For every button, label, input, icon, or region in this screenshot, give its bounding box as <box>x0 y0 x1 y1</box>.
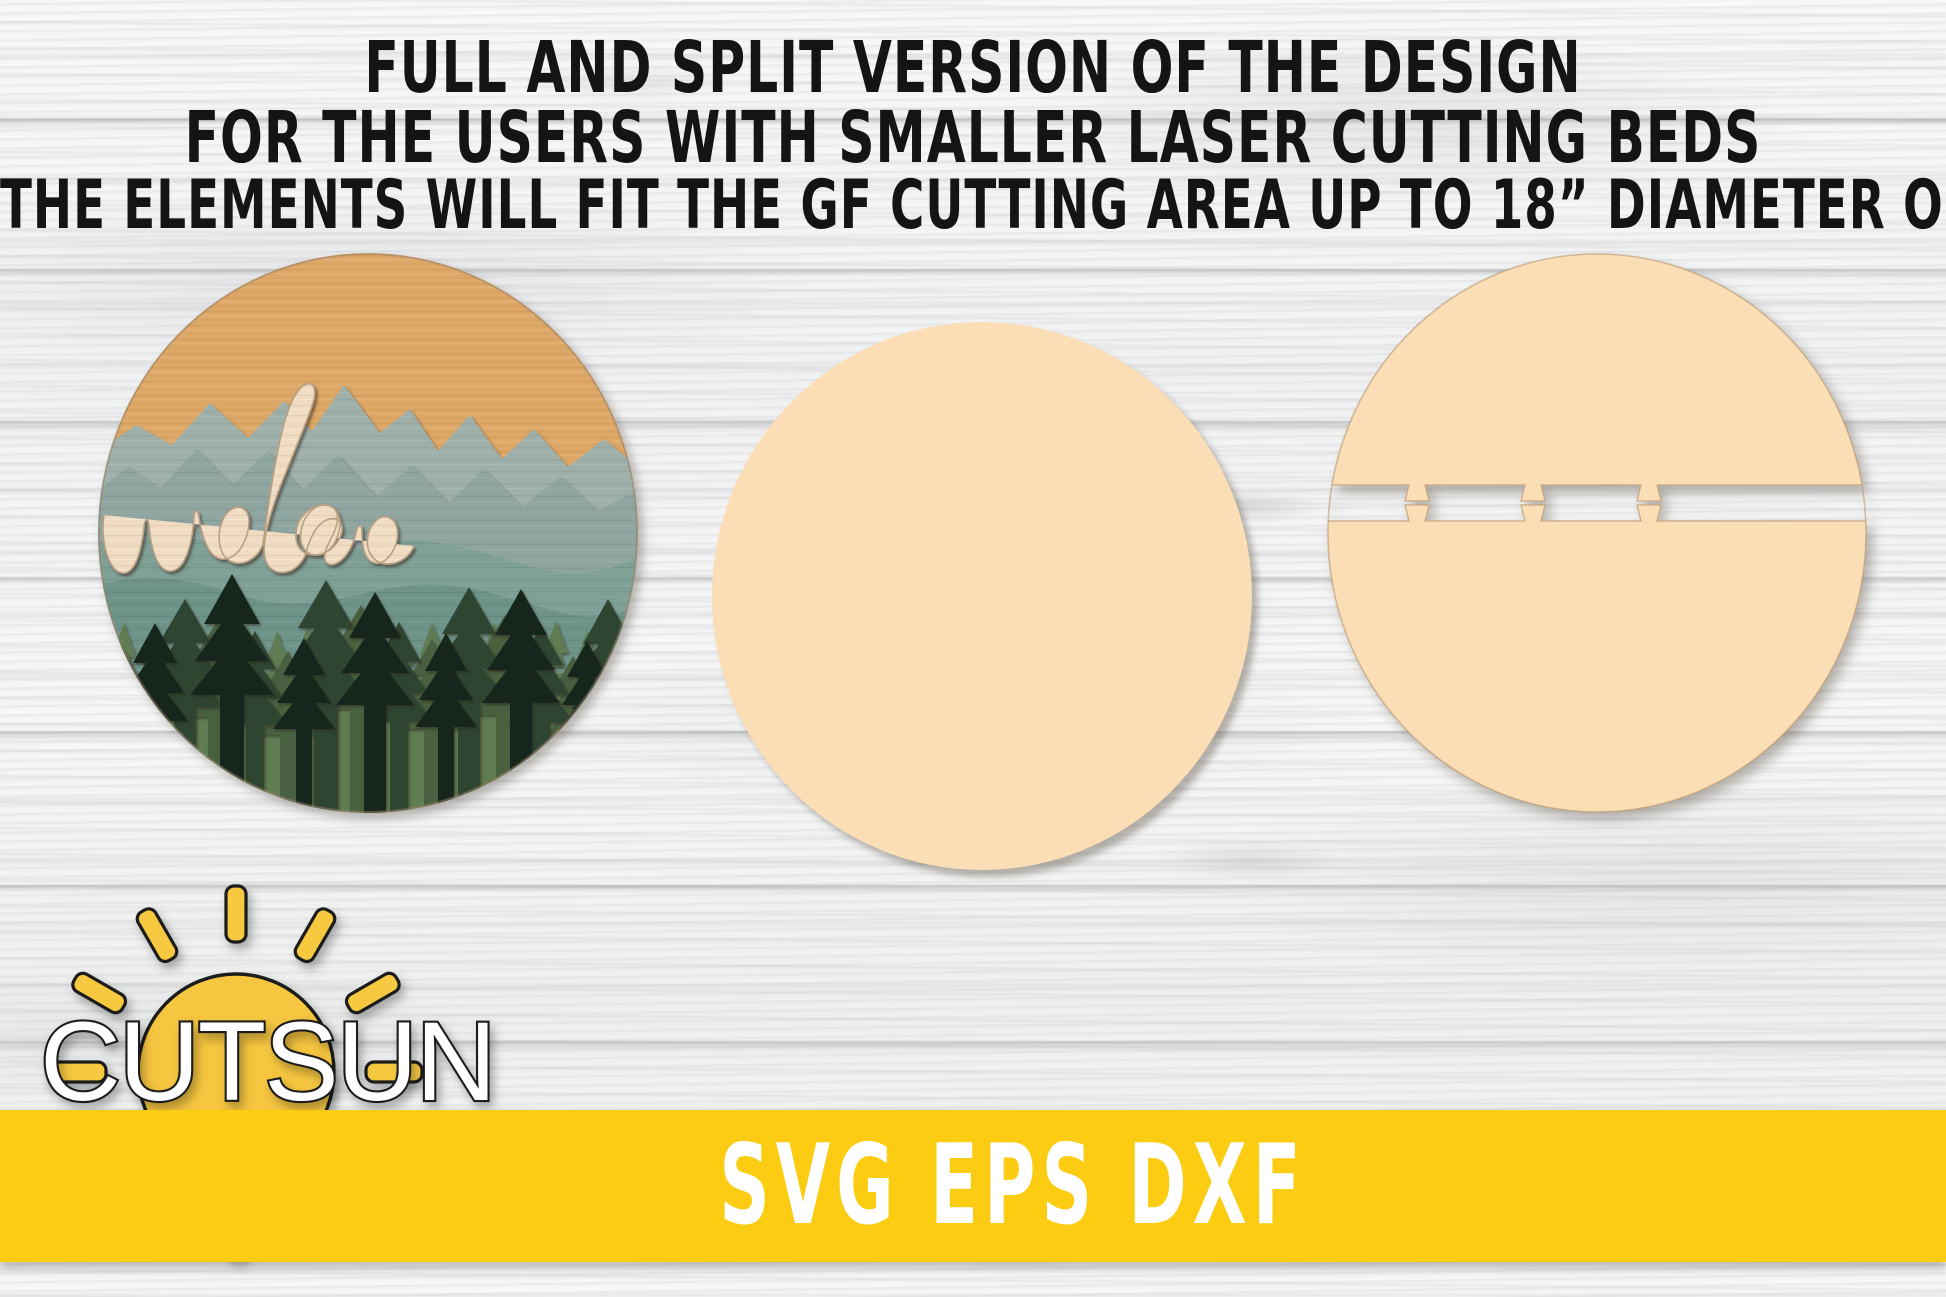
design-round-welcome <box>98 253 638 813</box>
brand-wordmark: CUTSUN <box>40 999 495 1124</box>
poster-canvas: FULL AND SPLIT VERSION OF THE DESIGN FOR… <box>0 0 1946 1297</box>
design-round-split <box>1327 253 1867 813</box>
design-round-blank <box>712 322 1252 870</box>
split-bottom-half <box>1327 505 1867 813</box>
welcome-scene-layers <box>98 253 638 813</box>
split-top-half <box>1327 253 1867 501</box>
formats-label: SVG EPS DXF <box>719 1122 1307 1250</box>
headline-line-3: THE ELEMENTS WILL FIT THE GF CUTTING ARE… <box>0 167 1946 245</box>
formats-banner: SVG EPS DXF <box>0 1110 1946 1262</box>
